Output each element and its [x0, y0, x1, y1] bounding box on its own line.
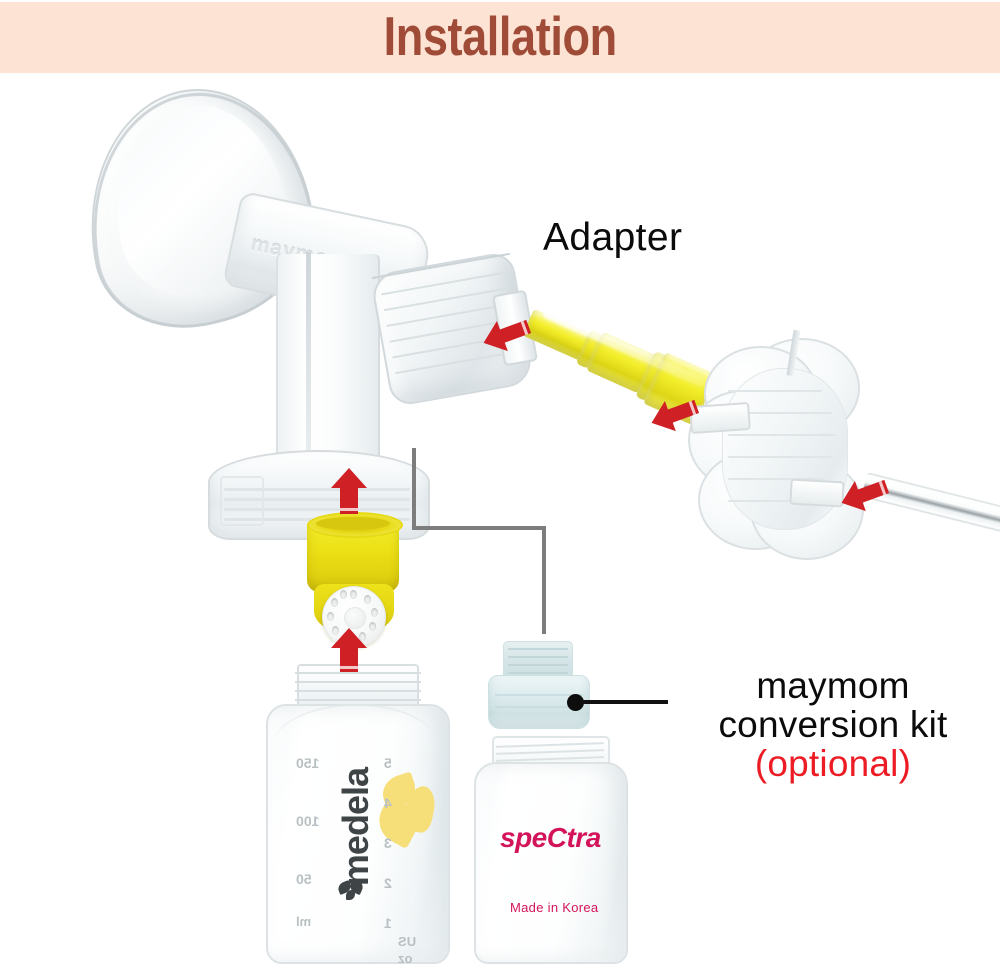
medela-brand-label: medela — [338, 768, 374, 886]
arrow-bottle-to-valve — [327, 626, 371, 676]
connector-body — [276, 254, 380, 464]
medela-sprout-icon — [338, 876, 364, 900]
arrow-tubing-to-backflow — [838, 472, 894, 516]
leader-line-horizontal-1 — [412, 526, 546, 530]
collar-notch — [220, 476, 264, 526]
header-band: Installation — [0, 2, 1000, 73]
spectra-bottle: speCtra Made in Korea — [474, 736, 624, 960]
arrow-tube-to-adapter — [648, 392, 704, 436]
callout-leader-line — [580, 700, 668, 704]
spectra-origin-label: Made in Korea — [510, 900, 598, 915]
backflow-protector — [688, 338, 918, 558]
callout-line-3-optional: (optional) — [673, 745, 993, 784]
backflow-protector-right-port — [789, 479, 844, 508]
callout-line-1: maymom — [673, 667, 993, 706]
connector-spine — [306, 252, 311, 452]
maymom-conversion-kit — [488, 641, 588, 733]
arrow-adapter-to-connector — [480, 312, 536, 356]
spectra-brand-label: speCtra — [500, 822, 601, 854]
yellow-valve-membrane — [300, 506, 410, 641]
leader-line-vertical-1 — [412, 448, 416, 530]
page-title: Installation — [383, 9, 616, 64]
medela-oz-scale: 5 4 3 2 1 US oz — [384, 756, 426, 966]
conversion-kit-callout: maymom conversion kit (optional) — [673, 667, 993, 784]
leader-line-vertical-2 — [542, 526, 546, 634]
medela-bottle: medela 150 100 50 ml 5 4 3 2 1 US oz — [266, 664, 446, 960]
callout-line-2: conversion kit — [673, 706, 993, 745]
arrow-valve-to-connector — [327, 466, 371, 520]
breast-shield-assembly: maymom — [80, 84, 440, 484]
adapter-label: Adapter — [543, 216, 682, 260]
medela-ml-scale: 150 100 50 ml — [296, 756, 336, 929]
installation-diagram: Installation maymom Adapter — [0, 0, 1000, 968]
